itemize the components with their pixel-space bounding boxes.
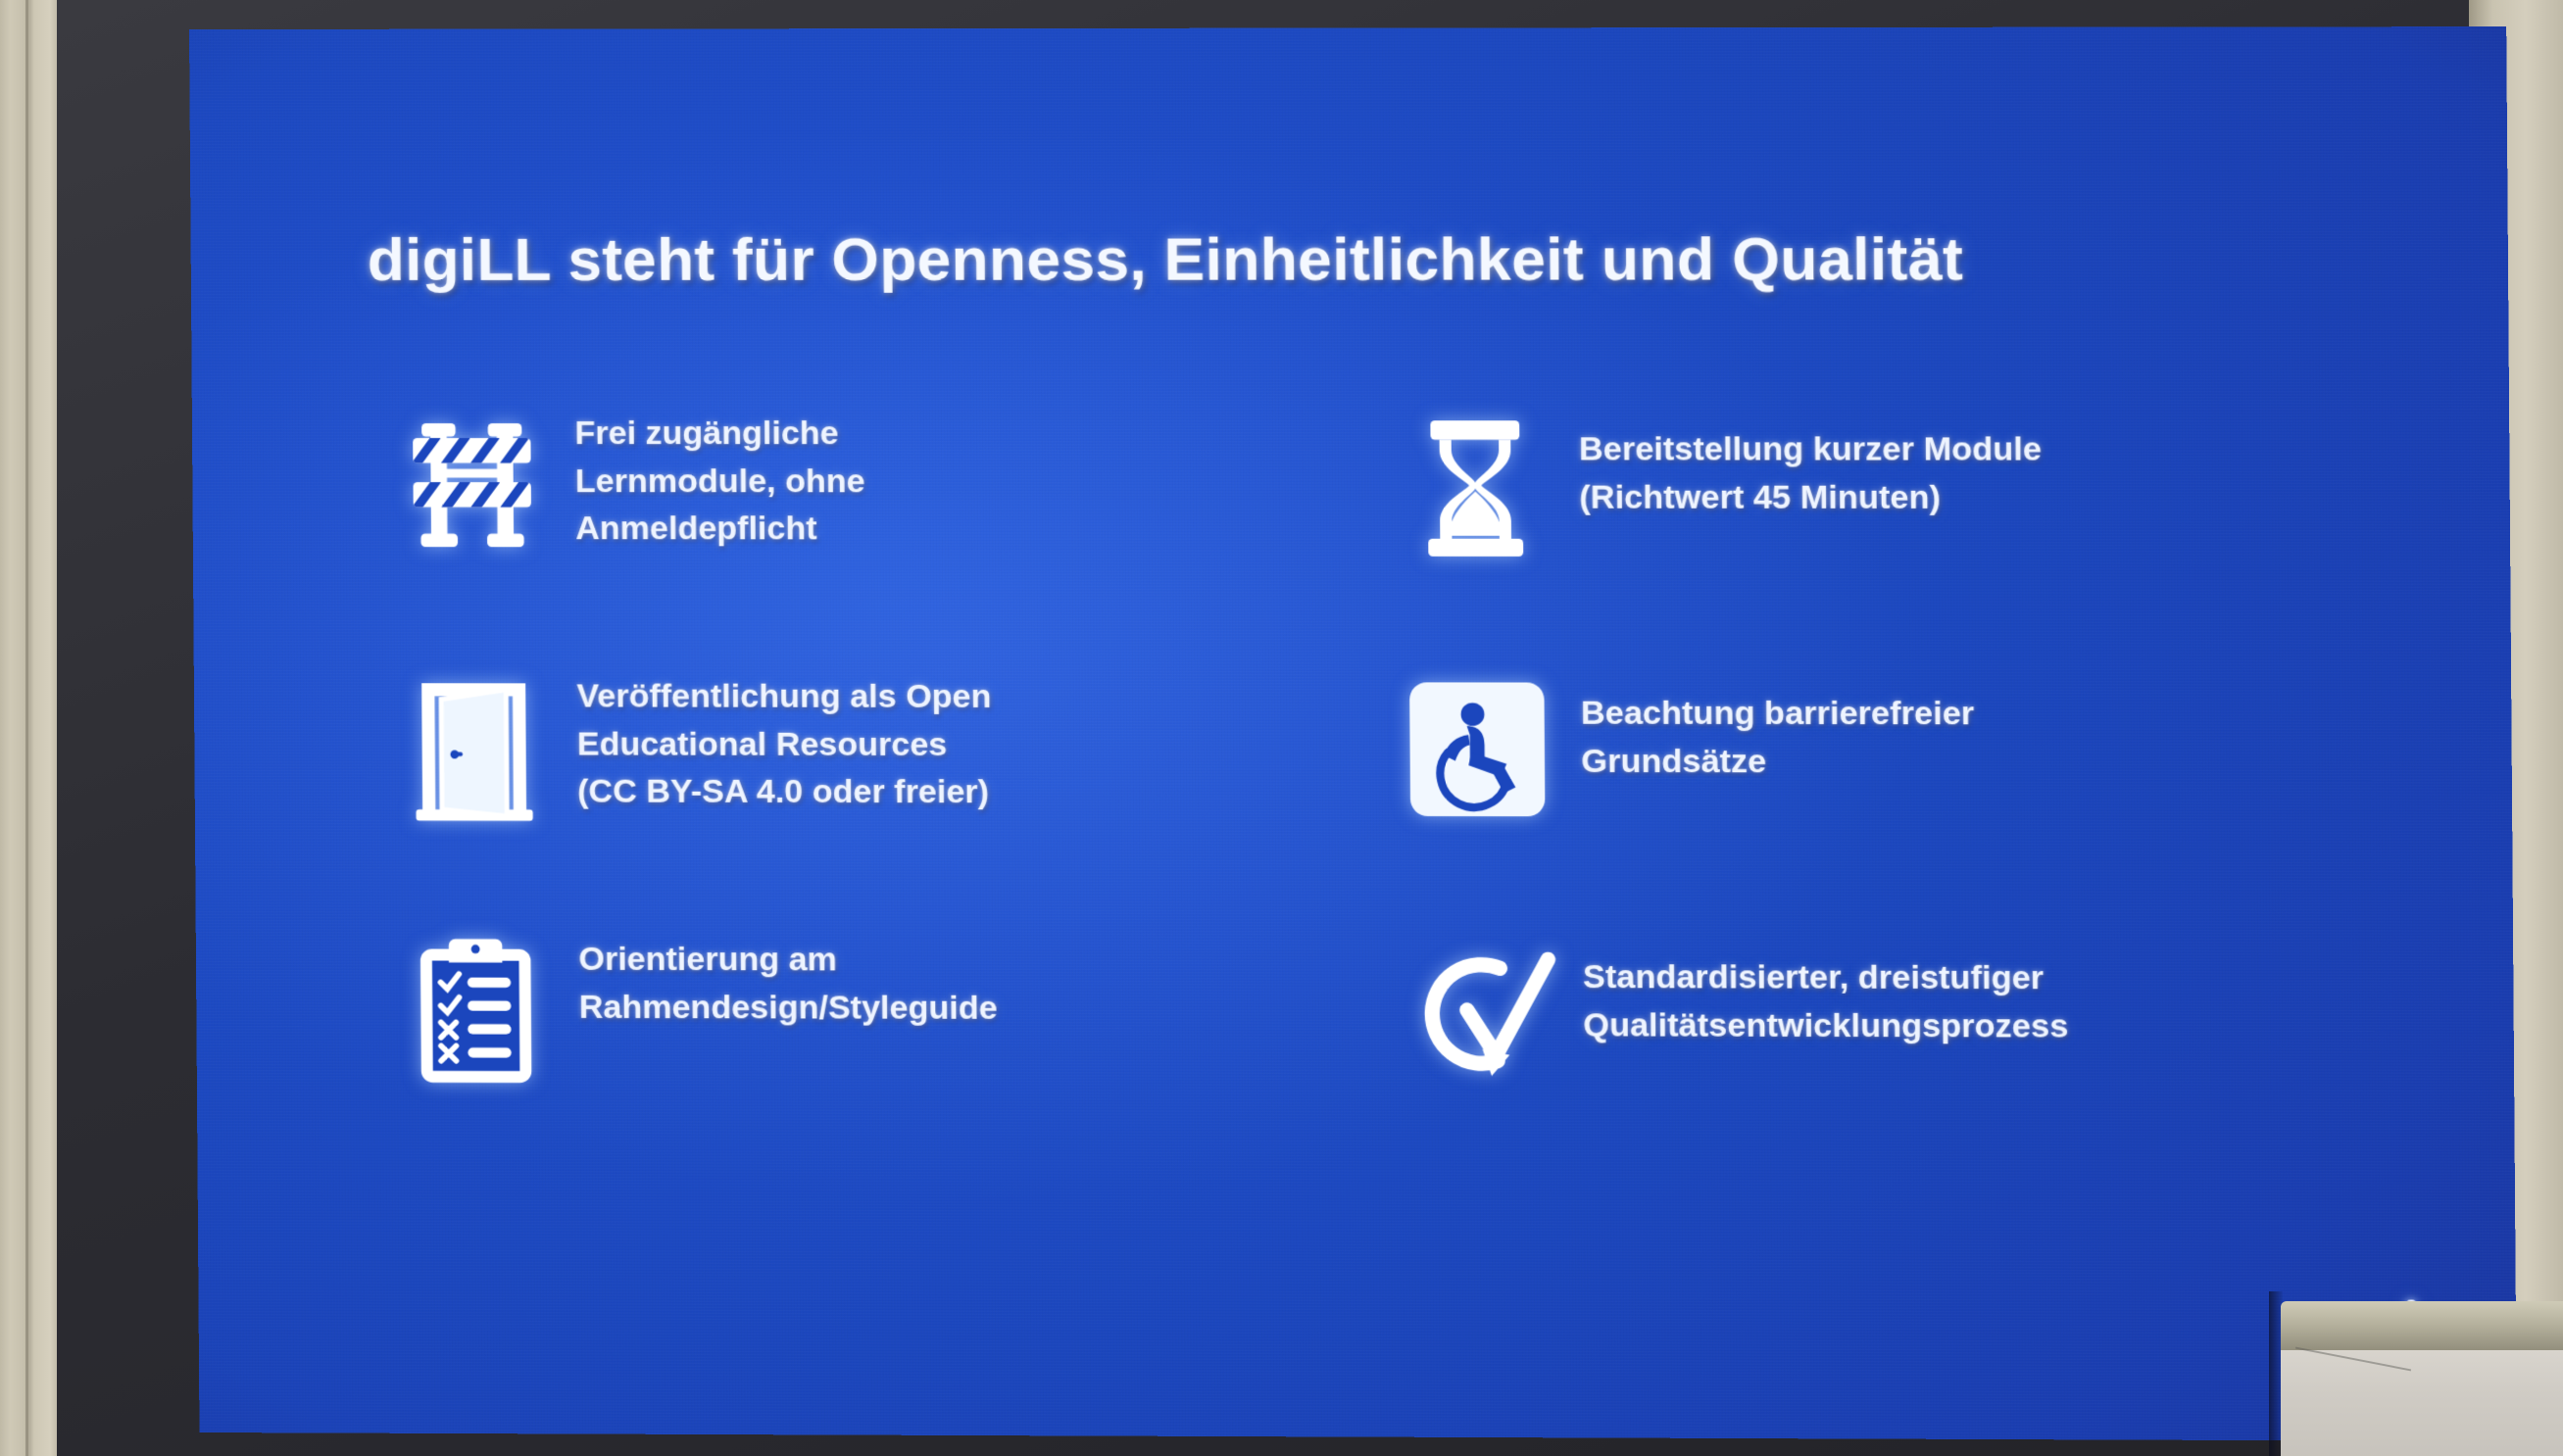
feature-line: Anmeldepflicht bbox=[575, 505, 865, 553]
feature-text: Beachtung barrierefreier Grundsätze bbox=[1581, 655, 1975, 785]
feature-line: Educational Resources bbox=[577, 720, 992, 768]
feature-line: Veröffentlichung als Open bbox=[576, 672, 991, 720]
feature-line: Bereitstellung kurzer Module bbox=[1579, 425, 2042, 473]
flipchart-paper bbox=[2281, 1350, 2563, 1456]
wall-left-strip bbox=[0, 0, 57, 1456]
feature-line: Qualitätsentwicklungsprozess bbox=[1583, 1001, 2068, 1050]
projected-slide-surface: digiLL steht für Openness, Einheitlichke… bbox=[189, 26, 2517, 1441]
feature-item-open-access: Frei zugängliche Lernmodule, ohne Anmeld… bbox=[369, 392, 1355, 655]
feature-item-oer-license: Veröffentlichung als Open Educational Re… bbox=[370, 655, 1357, 919]
feature-text: Veröffentlichung als Open Educational Re… bbox=[576, 655, 992, 816]
feature-text: Standardisierter, dreistufiger Qualitäts… bbox=[1583, 920, 2069, 1050]
clipboard-checklist-icon bbox=[372, 917, 580, 1104]
feature-text: Frei zugängliche Lernmodule, ohne Anmeld… bbox=[574, 392, 865, 553]
feature-line: (Richtwert 45 Minuten) bbox=[1579, 473, 2042, 521]
slide-content: digiLL steht für Openness, Einheitlichke… bbox=[189, 26, 2517, 1441]
flipchart-occlusion bbox=[2269, 1291, 2563, 1456]
feature-line: Rahmendesign/Styleguide bbox=[579, 983, 998, 1032]
flipchart-rail bbox=[2281, 1301, 2563, 1354]
open-door-icon bbox=[370, 655, 578, 841]
feature-line: Orientierung am bbox=[578, 936, 997, 985]
feature-text: Orientierung am Rahmendesign/Styleguide bbox=[578, 918, 998, 1032]
cycle-check-icon bbox=[1375, 919, 1584, 1106]
projection-photo-scene: digiLL steht für Openness, Einheitlichke… bbox=[0, 0, 2563, 1456]
feature-item-short-modules: Bereitstellung kurzer Module (Richtwert … bbox=[1353, 392, 2356, 656]
wheelchair-accessibility-icon bbox=[1373, 655, 1582, 843]
feature-text: Bereitstellung kurzer Module (Richtwert … bbox=[1579, 392, 2043, 521]
projection-screen-bezel: digiLL steht für Openness, Einheitlichke… bbox=[57, 0, 2469, 1456]
feature-line: Grundsätze bbox=[1581, 737, 1975, 785]
feature-line: Standardisierter, dreistufiger bbox=[1583, 953, 2068, 1002]
hourglass-icon bbox=[1371, 392, 1580, 579]
feature-line: Frei zugängliche bbox=[574, 410, 864, 458]
feature-line: (CC BY-SA 4.0 oder freier) bbox=[577, 768, 992, 816]
feature-item-accessibility: Beachtung barrierefreier Grundsätze bbox=[1355, 655, 2358, 921]
barricade-icon bbox=[369, 392, 576, 578]
feature-grid: Frei zugängliche Lernmodule, ohne Anmeld… bbox=[369, 392, 2361, 1186]
slide-title: digiLL steht für Openness, Einheitlichke… bbox=[368, 224, 1964, 295]
feature-line: Beachtung barrierefreier bbox=[1581, 690, 1975, 738]
feature-line: Lernmodule, ohne bbox=[575, 458, 865, 506]
feature-item-quality-process: Standardisierter, dreistufiger Qualitäts… bbox=[1356, 919, 2360, 1186]
feature-item-styleguide: Orientierung am Rahmendesign/Styleguide bbox=[372, 917, 1359, 1183]
